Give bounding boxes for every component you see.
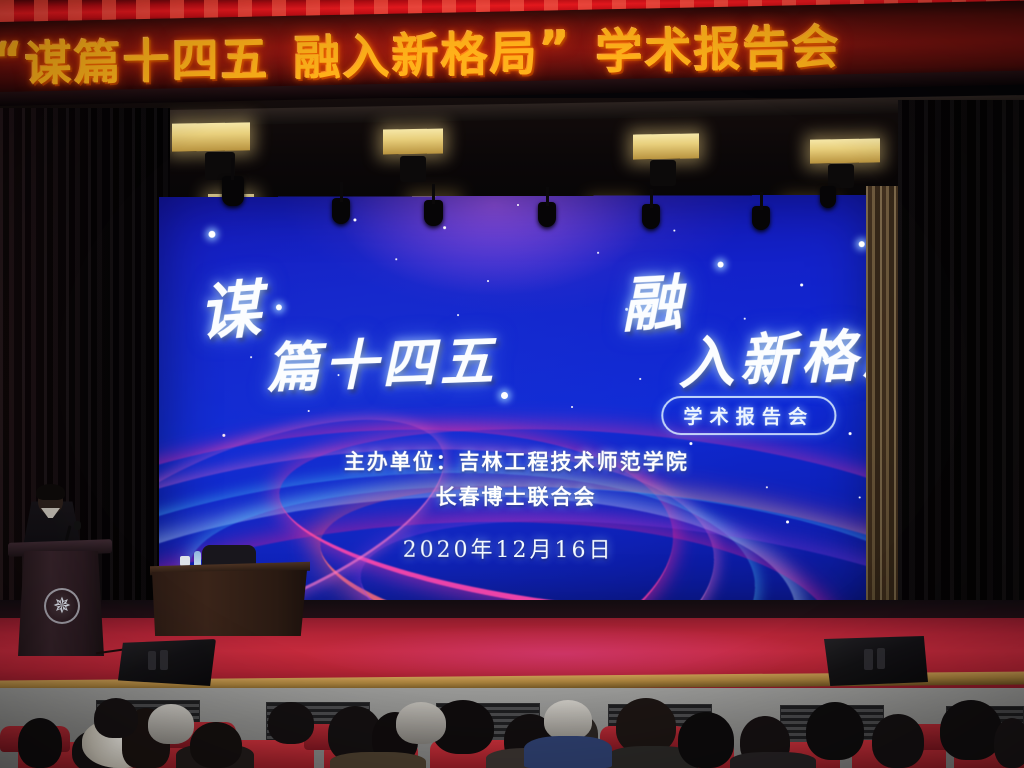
stage-curtain-right — [898, 100, 1024, 675]
audience-head-grey-1 — [544, 700, 592, 740]
audience-head-grey-3 — [396, 702, 446, 744]
audience-head-grey-2 — [148, 704, 194, 744]
stage-lamp-2 — [383, 128, 443, 154]
spotlight-arm-2 — [340, 182, 343, 202]
hanging-spotlight-7 — [820, 186, 836, 208]
screen-event-date: 2020年12月16日 — [343, 532, 673, 565]
stage-lamp-3 — [633, 133, 699, 159]
audience-head-14 — [872, 714, 924, 768]
banner-segment-two: 融入新格局 — [294, 14, 539, 88]
audience-head-13 — [806, 702, 864, 760]
auditorium-photo-scene: 谋 篇十四五 融 入新格局 学术报告会 主办单位：吉林工程技术师范学院 长春博士… — [0, 0, 1024, 768]
spotlight-arm-1 — [231, 158, 234, 180]
lamp-mount-2 — [400, 156, 426, 182]
banner-segment-one: 谋篇十四五 — [25, 20, 270, 94]
lamp-mount-4 — [828, 164, 854, 188]
audience-head-4 — [190, 722, 242, 768]
spotlight-arm-4 — [546, 187, 549, 206]
stage-lamp-1 — [172, 122, 250, 151]
podium-star-glyph-icon: ✵ — [50, 594, 74, 618]
screen-host-line-2: 长春博士联合会 — [159, 481, 877, 512]
audience-head-15 — [940, 700, 1002, 760]
calligraphy-seg-2: 篇十四五 — [265, 316, 499, 403]
audience-head-17 — [268, 702, 314, 744]
screen-subtitle-pill: 学术报告会 — [661, 396, 836, 435]
screen-host-line-1: 主办单位：吉林工程技术师范学院 — [159, 446, 877, 477]
stage-monitor-left — [118, 639, 216, 686]
banner-quote-open: “ — [0, 32, 25, 88]
microphone-head — [74, 521, 81, 530]
stage-lamp-4 — [810, 138, 880, 163]
hanging-spotlight-1 — [222, 176, 244, 206]
spotlight-arm-3 — [432, 184, 435, 204]
audience-shoulder-blue — [524, 736, 612, 768]
head-table — [152, 570, 307, 636]
audience-shoulder-2 — [330, 752, 426, 768]
screen-calligraphy-title: 谋 篇十四五 融 入新格局 — [191, 253, 877, 374]
calligraphy-seg-3: 融 — [619, 254, 684, 344]
banner-segment-three: 学术报告会 — [596, 8, 841, 82]
lamp-mount-3 — [650, 160, 676, 186]
audience-head-11 — [678, 712, 734, 768]
audience-head-18 — [94, 698, 138, 738]
presenter-hair — [36, 484, 65, 500]
audience-shoulder-5 — [730, 752, 816, 768]
calligraphy-seg-4: 入新格局 — [676, 308, 877, 400]
banner-quote-close: ” — [539, 21, 572, 77]
audience-head-1 — [18, 718, 62, 768]
calligraphy-seg-1: 谋 — [196, 258, 267, 352]
stage-monitor-right — [824, 636, 928, 686]
audience-head-16 — [994, 718, 1024, 768]
spotlight-arm-6 — [760, 192, 763, 210]
stage-led-backdrop: 谋 篇十四五 融 入新格局 学术报告会 主办单位：吉林工程技术师范学院 长春博士… — [159, 195, 877, 621]
spotlight-arm-5 — [650, 189, 653, 208]
